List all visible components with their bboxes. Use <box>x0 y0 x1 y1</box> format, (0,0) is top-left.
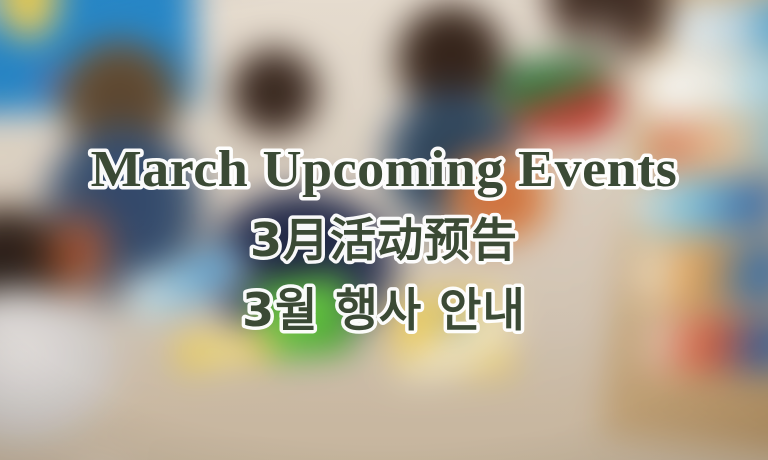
child-middle-hair <box>226 44 322 140</box>
title-korean-fill: 3월 행사 안내 <box>242 283 526 337</box>
march-events-banner: March Upcoming Events March Upcoming Eve… <box>0 0 768 460</box>
striped-sweater <box>500 58 620 140</box>
title-line-korean: 3월 행사 안내 3월 행사 안내 <box>184 281 584 339</box>
orange-cushion <box>36 196 124 306</box>
poster-light-glare <box>0 0 20 100</box>
title-english-fill: March Upcoming Events <box>91 141 678 198</box>
title-chinese-fill: 3月活动预告 <box>250 213 518 267</box>
shelf-book <box>671 0 768 55</box>
title-line-english: March Upcoming Events March Upcoming Eve… <box>51 141 717 201</box>
title-line-chinese: 3月活动预告 3月活动预告 <box>184 211 584 269</box>
shelf-book <box>646 52 768 119</box>
shelf-book <box>645 317 768 373</box>
shelf-book <box>635 243 768 306</box>
